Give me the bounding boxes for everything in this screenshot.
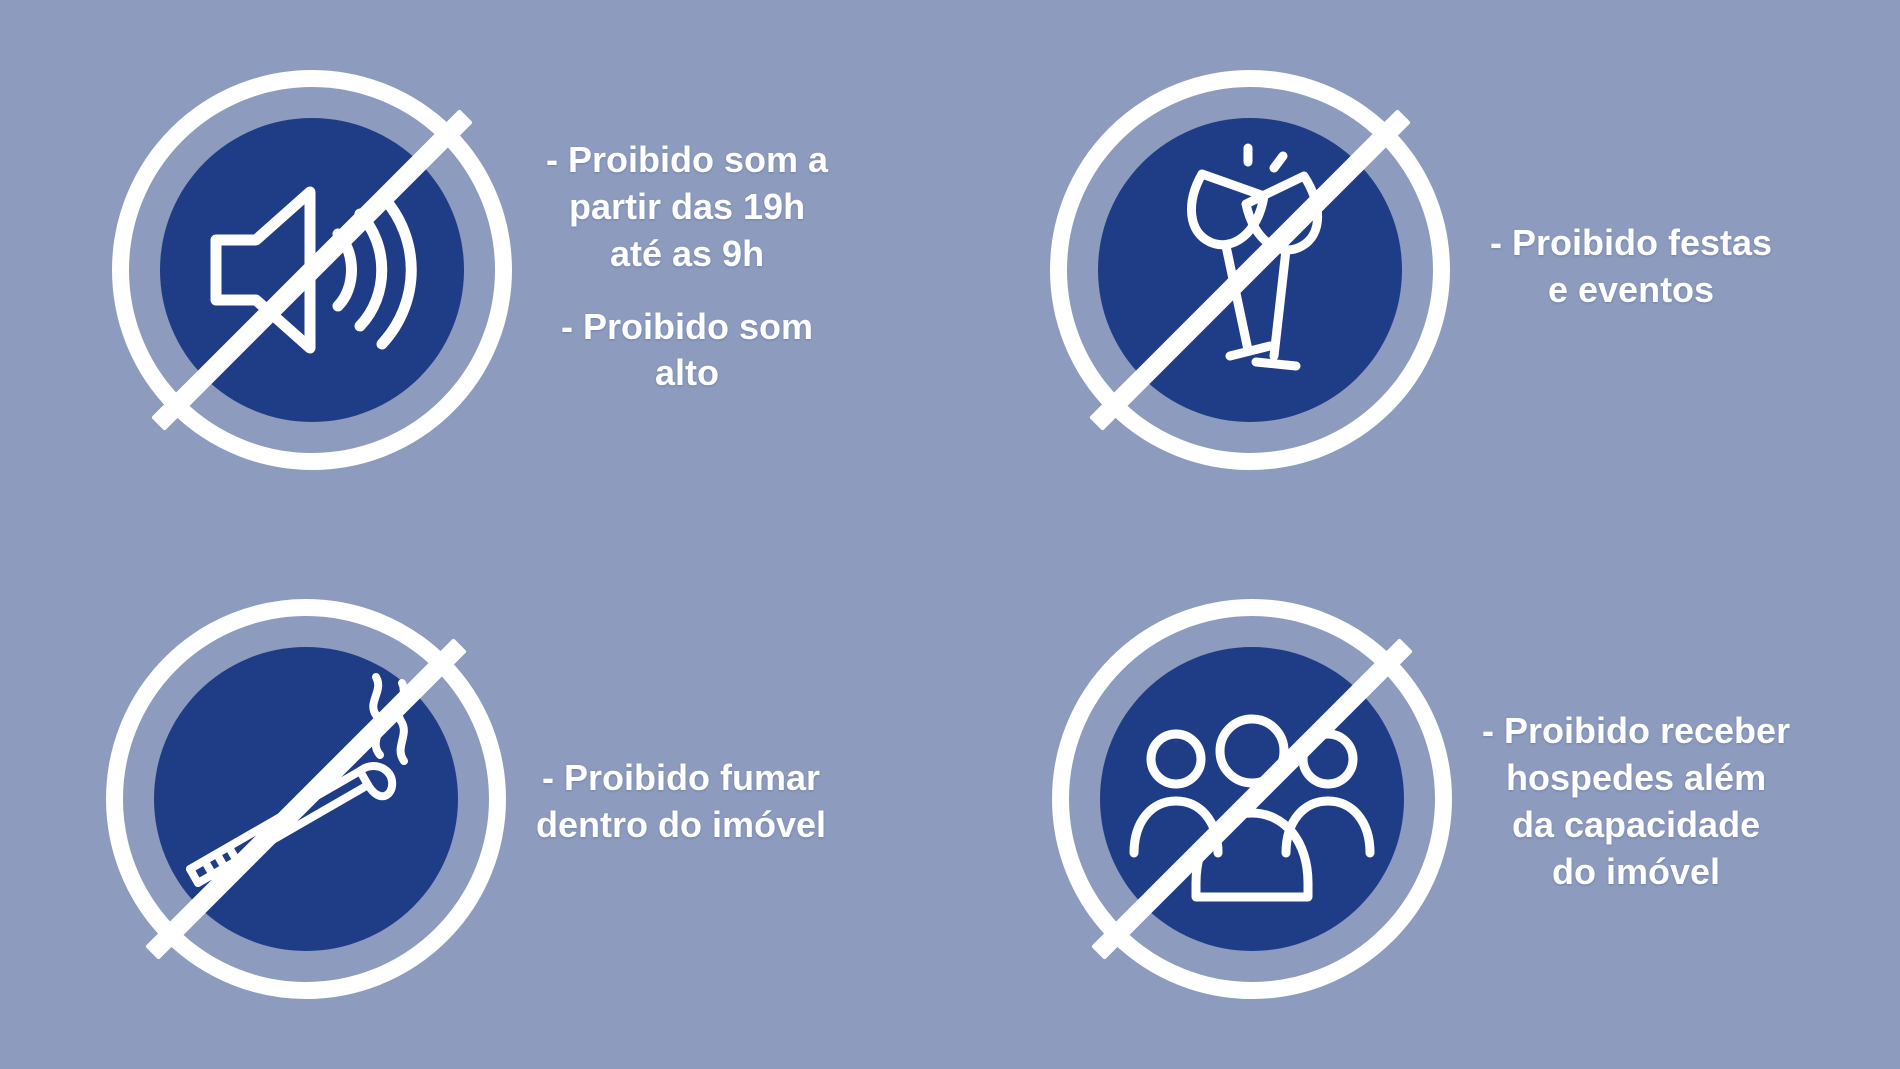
house-rules-board: - Proibido som a partir das 19h até as 9… [0,0,1900,1069]
rule-card-no-loud-sound: - Proibido som a partir das 19h até as 9… [0,0,950,535]
rule-line: partir das 19h [546,184,828,231]
rule-card-no-smoking: - Proibido fumar dentro do imóvel [0,535,950,1069]
prohibition-badge-no-parties [1050,70,1450,470]
rule-card-no-extra-guests: - Proibido receber hospedes além da capa… [950,535,1900,1069]
rule-line: - Proibido fumar [536,755,826,802]
rule-line: da capacidade [1482,802,1790,849]
rule-line: dentro do imóvel [536,802,826,849]
rule-paragraph: - Proibido receber hospedes além da capa… [1482,708,1790,895]
rule-line: hospedes além [1482,755,1790,802]
rule-line: e eventos [1490,267,1772,314]
rule-line: até as 9h [546,231,828,278]
prohibition-badge-no-extra-guests [1052,599,1452,999]
rule-line: - Proibido receber [1482,708,1790,755]
rule-line: - Proibido som [546,304,828,351]
prohibition-badge-no-smoking [106,599,506,999]
rule-paragraph: - Proibido som a partir das 19h até as 9… [546,137,828,277]
rule-text-no-smoking: - Proibido fumar dentro do imóvel [536,755,826,849]
prohibition-badge-no-loud-sound [112,70,512,470]
rule-card-no-parties: - Proibido festas e eventos [950,0,1900,535]
rule-paragraph: - Proibido som alto [546,304,828,398]
rule-paragraph: - Proibido festas e eventos [1490,220,1772,314]
rule-line: do imóvel [1482,849,1790,896]
rule-text-no-loud-sound: - Proibido som a partir das 19h até as 9… [546,137,828,397]
rule-line: - Proibido som a [546,137,828,184]
rule-line: - Proibido festas [1490,220,1772,267]
rule-line: alto [546,350,828,397]
rule-text-no-extra-guests: - Proibido receber hospedes além da capa… [1482,708,1790,895]
rule-paragraph: - Proibido fumar dentro do imóvel [536,755,826,849]
rule-text-no-parties: - Proibido festas e eventos [1490,220,1772,314]
